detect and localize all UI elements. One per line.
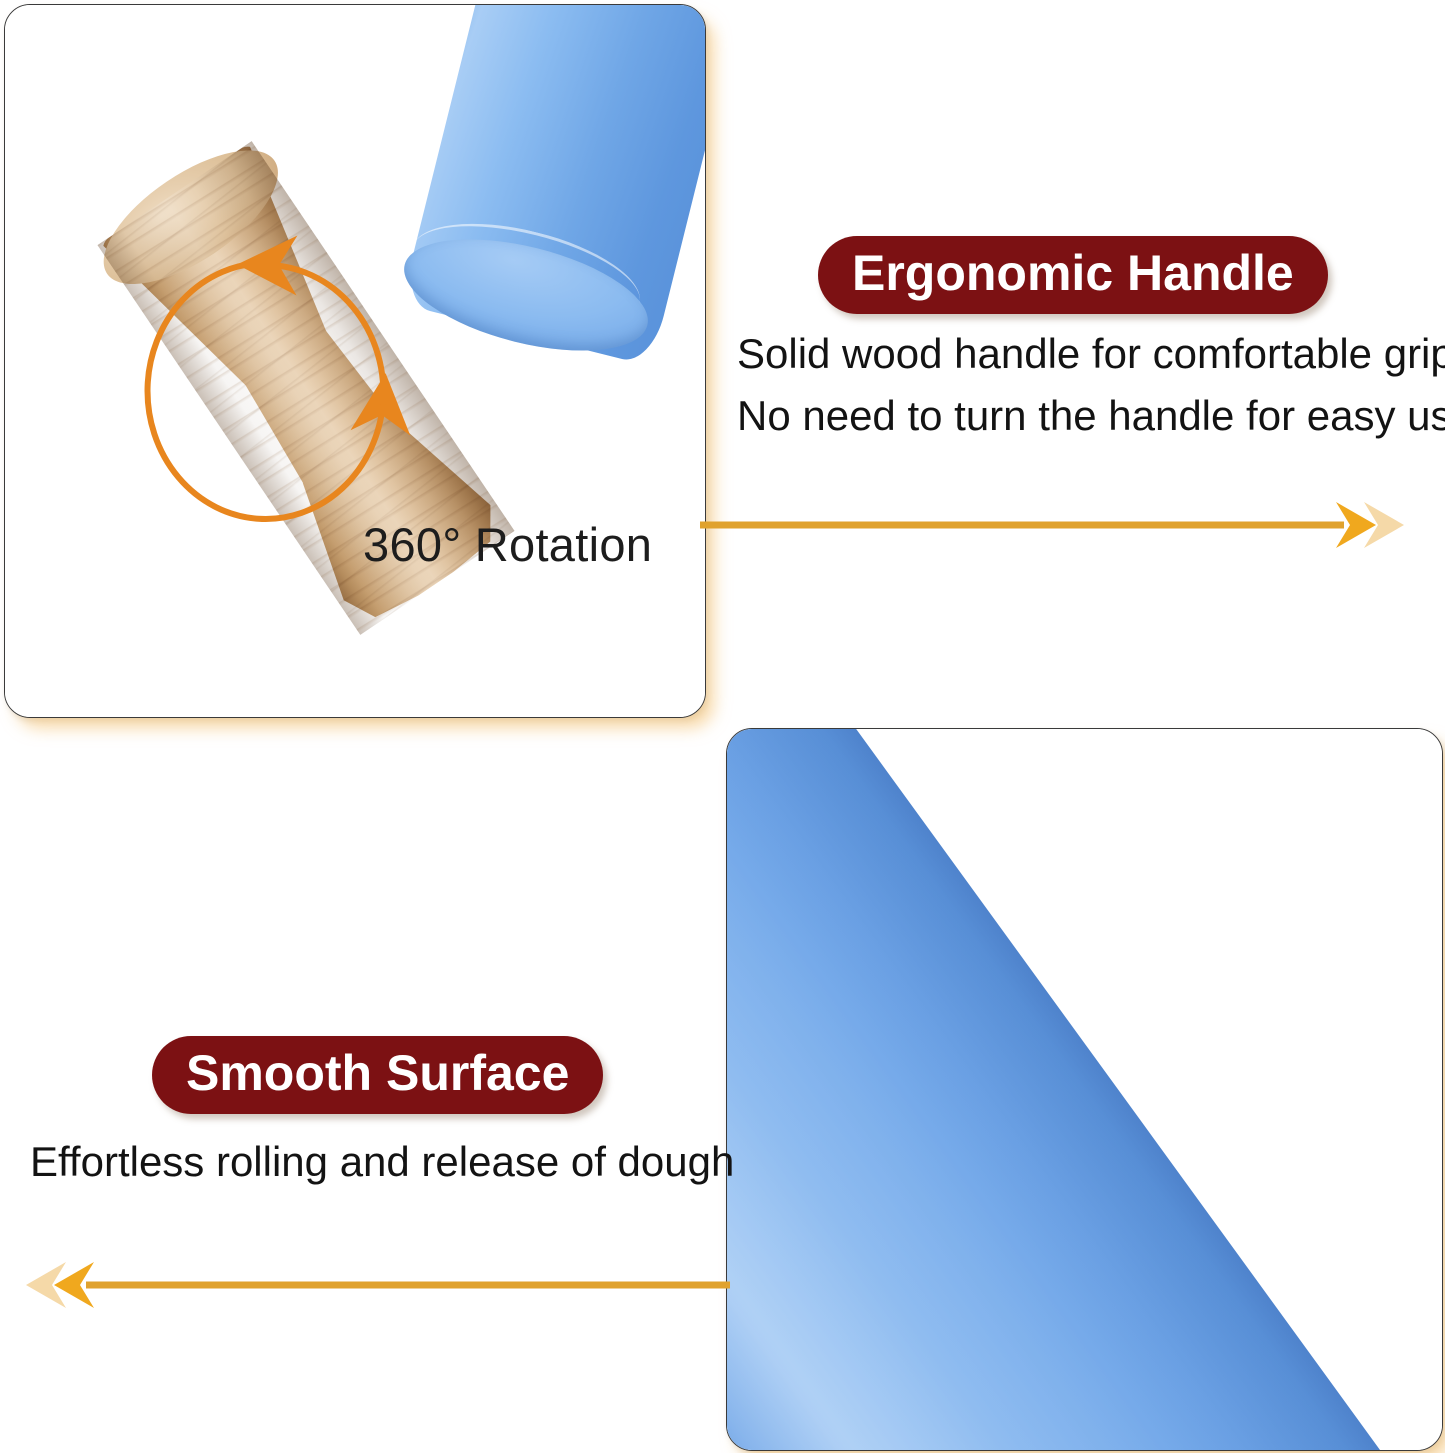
ergonomic-handle-line-2: No need to turn the handle for easy use (737, 392, 1445, 440)
handle-photo: 360° Rotation (5, 5, 705, 717)
rotation-arc-icon (173, 227, 473, 527)
silicone-surface-cylinder (726, 728, 1443, 1451)
smooth-surface-panel (726, 728, 1443, 1451)
ergonomic-handle-badge: Ergonomic Handle (818, 236, 1328, 314)
smooth-surface-connector (24, 1254, 730, 1316)
smooth-surface-badge: Smooth Surface (152, 1036, 603, 1114)
ergonomic-handle-line-1: Solid wood handle for comfortable grip (737, 330, 1445, 378)
smooth-surface-line-1: Effortless rolling and release of dough (30, 1138, 734, 1186)
ergonomic-handle-connector (700, 494, 1420, 556)
surface-photo (727, 729, 1442, 1450)
infographic-canvas: 360° Rotation Ergonomic Handle Solid woo… (0, 0, 1445, 1453)
rotation-caption: 360° Rotation (363, 517, 652, 572)
ergonomic-handle-panel: 360° Rotation (4, 4, 706, 718)
